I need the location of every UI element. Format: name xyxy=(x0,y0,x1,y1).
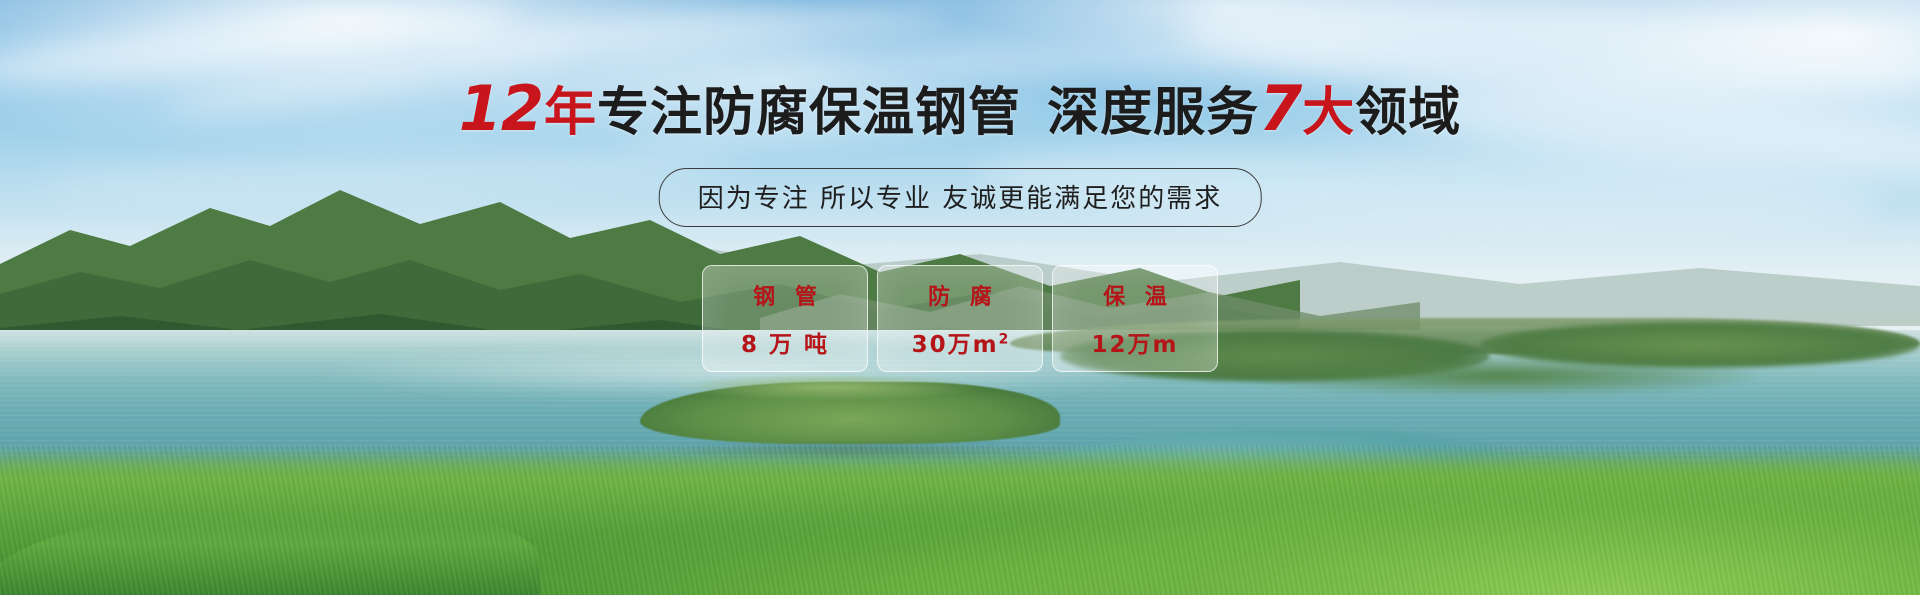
banner-content: 12年专注防腐保温钢管深度服务7大领域 因为专注 所以专业 友诚更能满足您的需求… xyxy=(0,0,1920,595)
headline-part-one: 专注防腐保温钢管 xyxy=(597,83,1021,143)
stats-row: 钢 管 8 万 吨 防 腐 30万m2 保 温 12万m xyxy=(702,265,1218,372)
headline-part-two: 深度服务 xyxy=(1047,83,1259,143)
stat-card-insulation[interactable]: 保 温 12万m xyxy=(1052,265,1218,372)
headline-fields-number: 7 xyxy=(1259,72,1302,145)
slogan-pill: 因为专注 所以专业 友诚更能满足您的需求 xyxy=(659,168,1262,227)
headline-fields-unit: 大 xyxy=(1302,83,1355,143)
stat-value: 8 万 吨 xyxy=(741,325,829,359)
stat-label: 防 腐 xyxy=(922,279,998,311)
hero-banner: 12年专注防腐保温钢管深度服务7大领域 因为专注 所以专业 友诚更能满足您的需求… xyxy=(0,0,1920,595)
stat-card-anticorrosion[interactable]: 防 腐 30万m2 xyxy=(877,265,1043,372)
stat-value-text: 12万m xyxy=(1092,332,1179,358)
stat-value-text: 8 万 吨 xyxy=(741,332,829,358)
stat-label: 保 温 xyxy=(1097,279,1173,311)
headline-part-three: 领域 xyxy=(1355,83,1461,143)
stat-label: 钢 管 xyxy=(747,279,823,311)
headline-years-unit: 年 xyxy=(544,83,597,143)
stat-value: 12万m xyxy=(1092,325,1179,359)
stat-value-superscript: 2 xyxy=(999,331,1009,347)
headline-years-number: 12 xyxy=(459,72,544,145)
headline: 12年专注防腐保温钢管深度服务7大领域 xyxy=(0,78,1920,140)
stat-card-steel-pipe[interactable]: 钢 管 8 万 吨 xyxy=(702,265,868,372)
stat-value: 30万m2 xyxy=(912,325,1009,359)
stat-value-text: 30万m xyxy=(912,332,999,358)
